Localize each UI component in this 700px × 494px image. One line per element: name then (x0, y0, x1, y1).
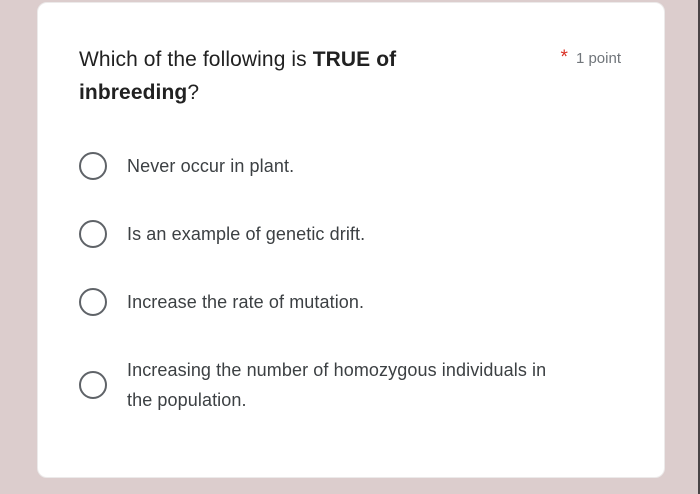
radio-button-icon[interactable] (79, 288, 107, 316)
radio-button-icon[interactable] (79, 220, 107, 248)
option-label: Increase the rate of mutation. (127, 287, 364, 317)
question-card: Which of the following is TRUE of inbree… (37, 2, 665, 478)
question-title: Which of the following is TRUE of inbree… (79, 43, 499, 109)
option-row[interactable]: Increasing the number of homozygous indi… (79, 355, 644, 415)
required-asterisk-icon: * (561, 52, 568, 64)
radio-button-icon[interactable] (79, 371, 107, 399)
option-label: Never occur in plant. (127, 151, 294, 181)
answer-options-list: Never occur in plant. Is an example of g… (79, 151, 644, 415)
radio-button-icon[interactable] (79, 152, 107, 180)
question-title-lead: Which of the following is (79, 48, 313, 71)
question-card-content: Which of the following is TRUE of inbree… (79, 43, 644, 415)
option-row[interactable]: Increase the rate of mutation. (79, 287, 644, 317)
option-label: Increasing the number of homozygous indi… (127, 355, 567, 415)
option-label: Is an example of genetic drift. (127, 219, 365, 249)
option-row[interactable]: Never occur in plant. (79, 151, 644, 181)
points-label: 1 point (576, 50, 621, 67)
points-indicator: * 1 point (561, 43, 644, 67)
option-row[interactable]: Is an example of genetic drift. (79, 219, 644, 249)
question-title-tail: ? (187, 81, 199, 104)
question-header: Which of the following is TRUE of inbree… (79, 43, 644, 109)
